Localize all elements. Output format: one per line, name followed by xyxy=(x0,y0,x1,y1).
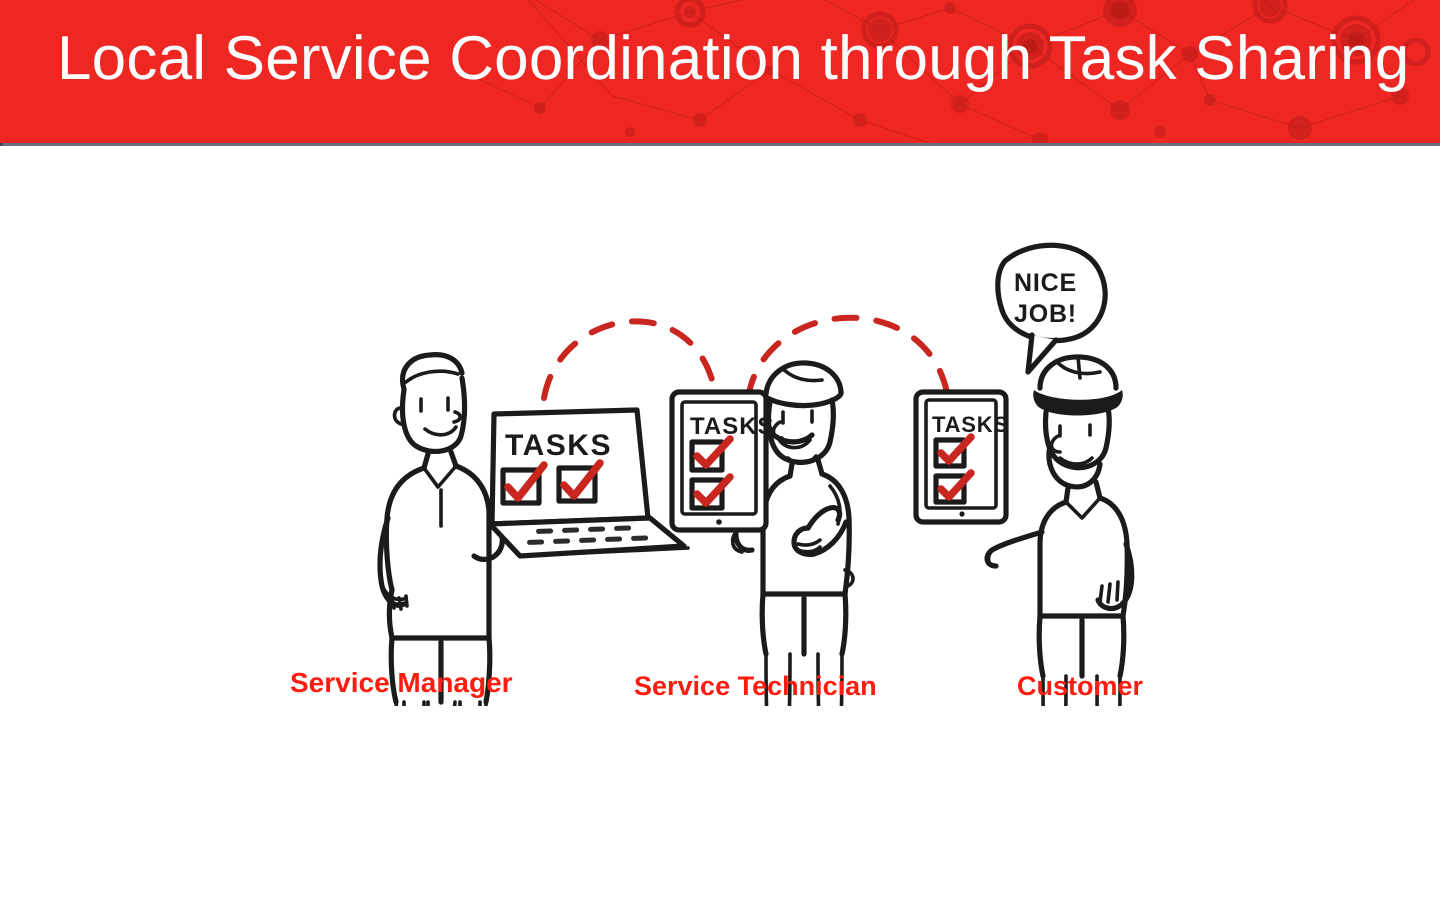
laptop-tasks-heading: TASKS xyxy=(505,429,612,462)
technician-tasks-heading: TASKS xyxy=(690,413,775,440)
connector-manager-to-technician xyxy=(544,321,716,398)
technician-tablet-device: TASKS xyxy=(672,392,775,530)
actor-service-technician: TASKS xyxy=(672,363,853,706)
role-label-service-technician: Service Technician xyxy=(634,671,877,702)
task-sharing-illustration: .ink { fill:none; stroke:#1b1b1b; stroke… xyxy=(0,146,1440,706)
role-label-service-manager: Service Manager xyxy=(290,667,513,699)
actor-customer: NICE JOB! xyxy=(916,245,1132,706)
laptop-device: TASKS xyxy=(490,410,688,556)
customer-tasks-heading: TASKS xyxy=(932,412,1009,437)
speech-bubble-line-1: NICE xyxy=(1014,269,1077,297)
page-title: Local Service Coordination through Task … xyxy=(57,24,1417,93)
connector-technician-to-customer xyxy=(748,318,948,398)
speech-bubble-line-2: JOB! xyxy=(1014,300,1077,328)
actor-service-manager: TASKS xyxy=(380,355,688,706)
connector-arcs xyxy=(544,318,948,398)
role-label-customer: Customer xyxy=(1017,671,1143,702)
header-band: Local Service Coordination through Task … xyxy=(0,0,1440,143)
customer-tablet-device: TASKS xyxy=(916,392,1009,522)
slide-canvas: Local Service Coordination through Task … xyxy=(0,0,1440,909)
speech-bubble: NICE JOB! xyxy=(998,245,1105,372)
